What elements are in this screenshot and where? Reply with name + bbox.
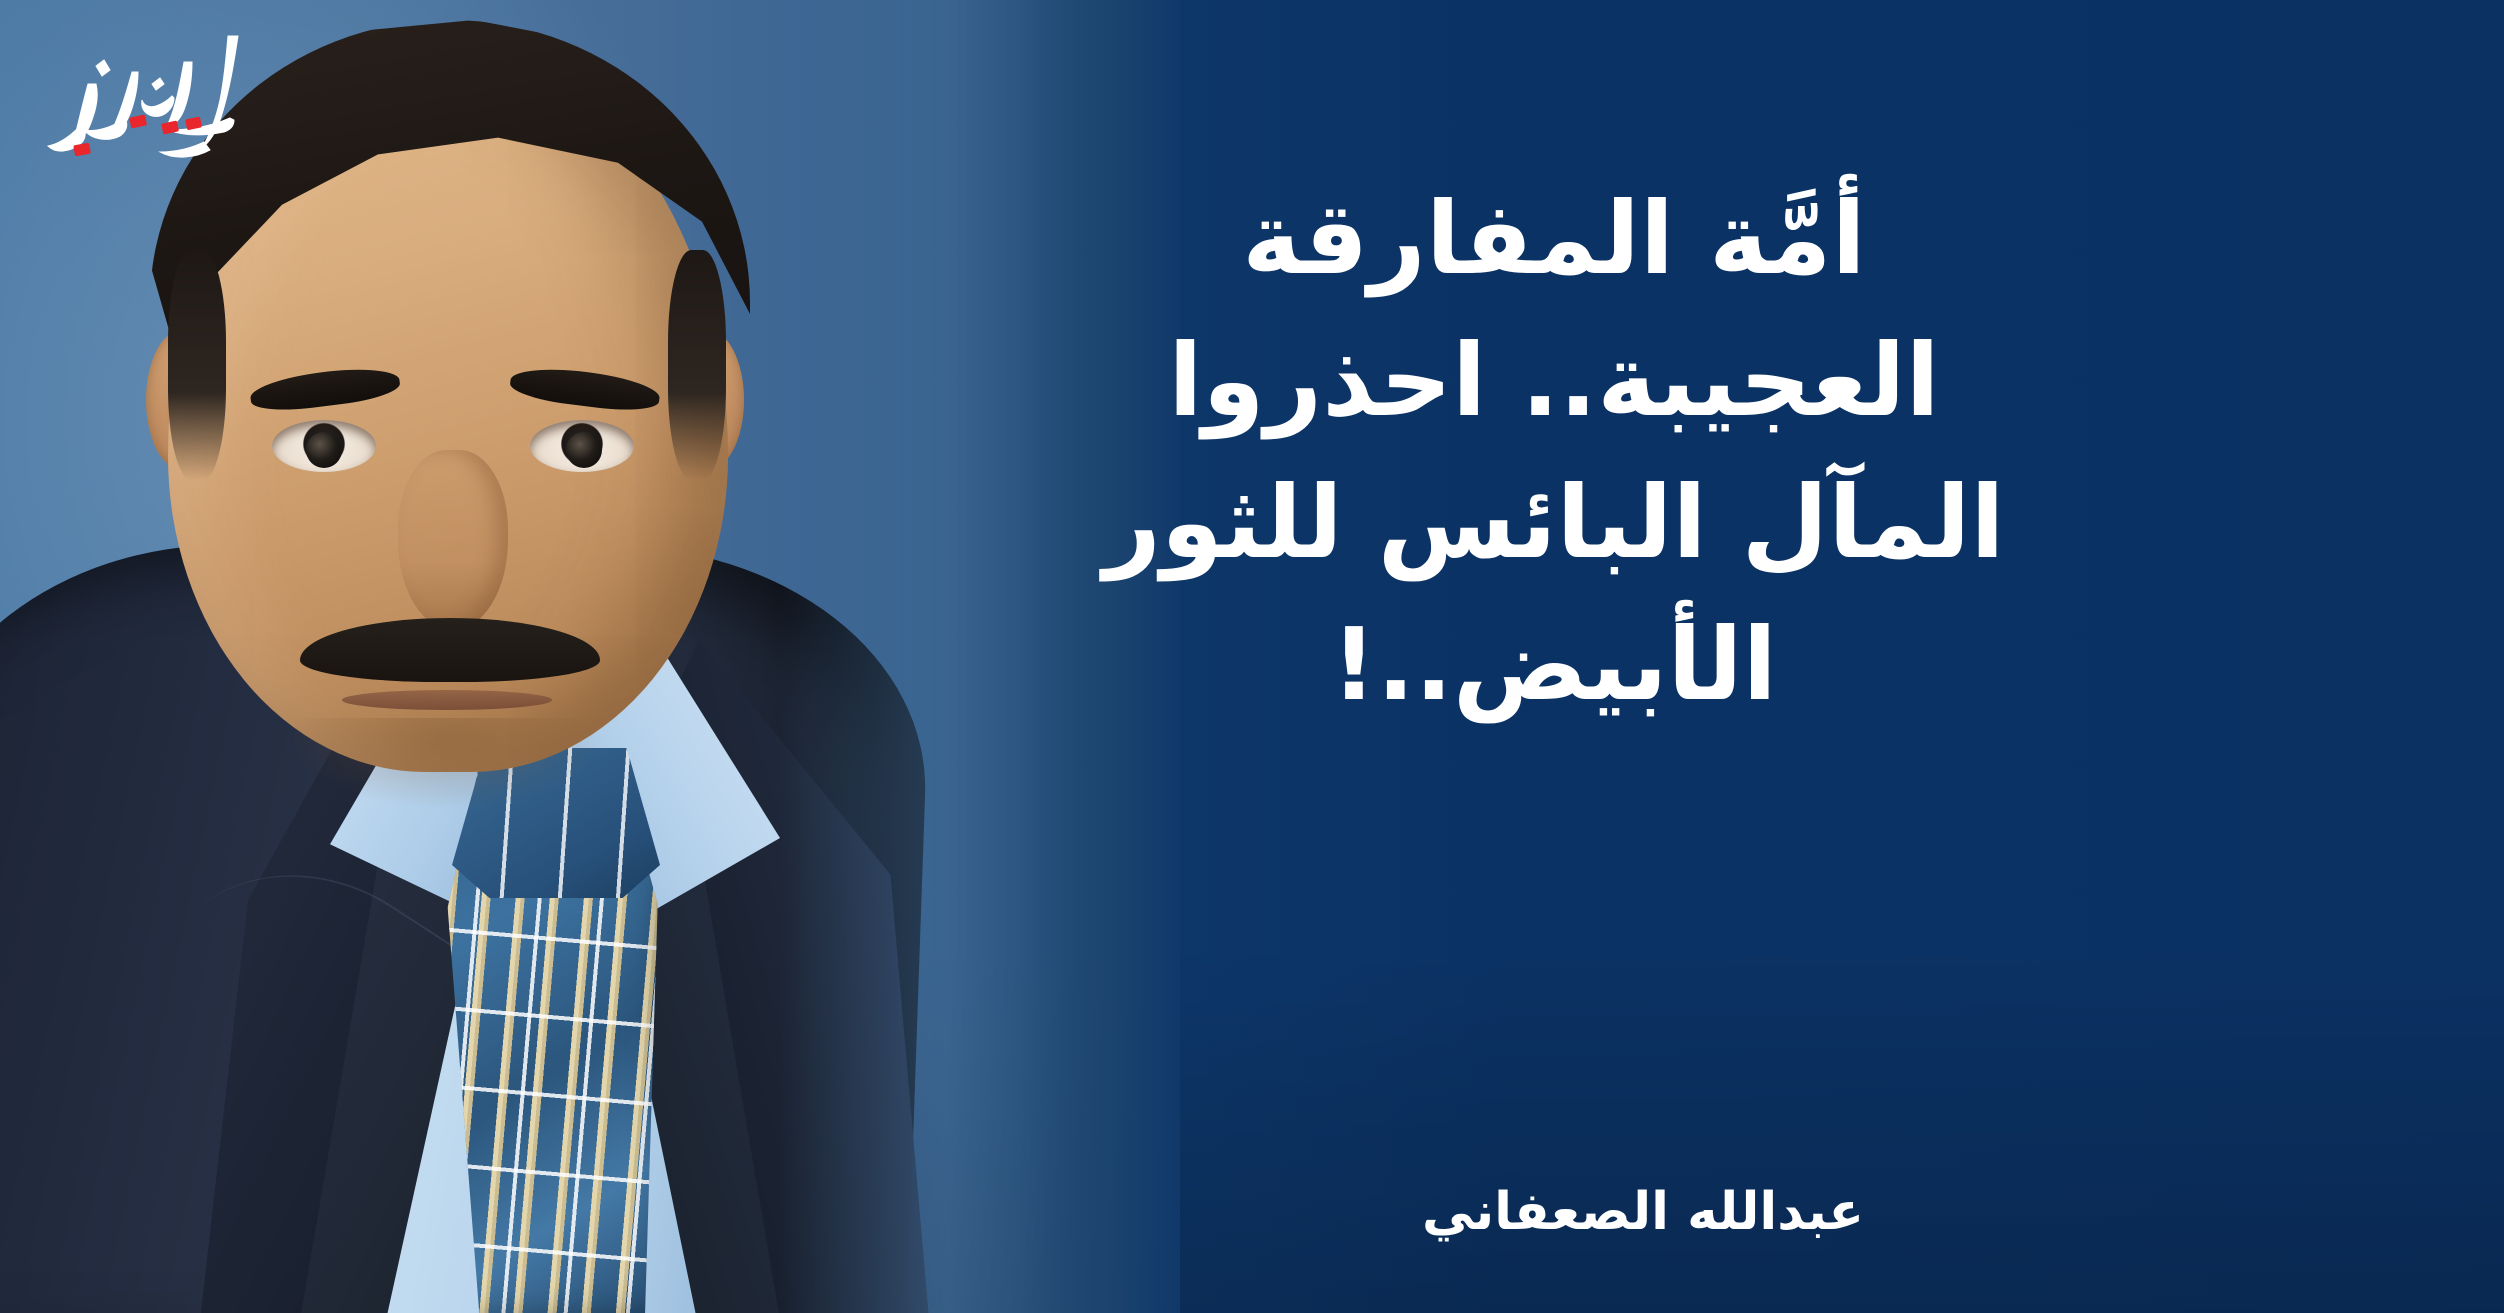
sideburn-right	[668, 250, 726, 480]
pupil-left	[306, 432, 342, 468]
headline-line-3: المآل البائس للثور	[934, 452, 2174, 594]
pupil-right	[566, 432, 602, 468]
nose	[398, 450, 508, 630]
headline-line-4: الأبيض..!	[934, 594, 2174, 736]
sideburn-left	[168, 250, 226, 480]
publication-logo[interactable]	[34, 22, 264, 162]
author-byline: عبدالله الصعفاني	[1422, 1182, 1864, 1242]
article-banner: أمَّة المفارقة العجيبة.. احذروا المآل ال…	[0, 0, 2504, 1313]
headline-line-2: العجيبة.. احذروا	[934, 310, 2174, 452]
chin-shadow	[290, 718, 600, 808]
headline-line-1: أمَّة المفارقة	[934, 168, 2174, 310]
mouth	[342, 690, 552, 710]
arabic-calligraphy-logo-icon	[34, 22, 264, 162]
headline: أمَّة المفارقة العجيبة.. احذروا المآل ال…	[934, 168, 2174, 736]
